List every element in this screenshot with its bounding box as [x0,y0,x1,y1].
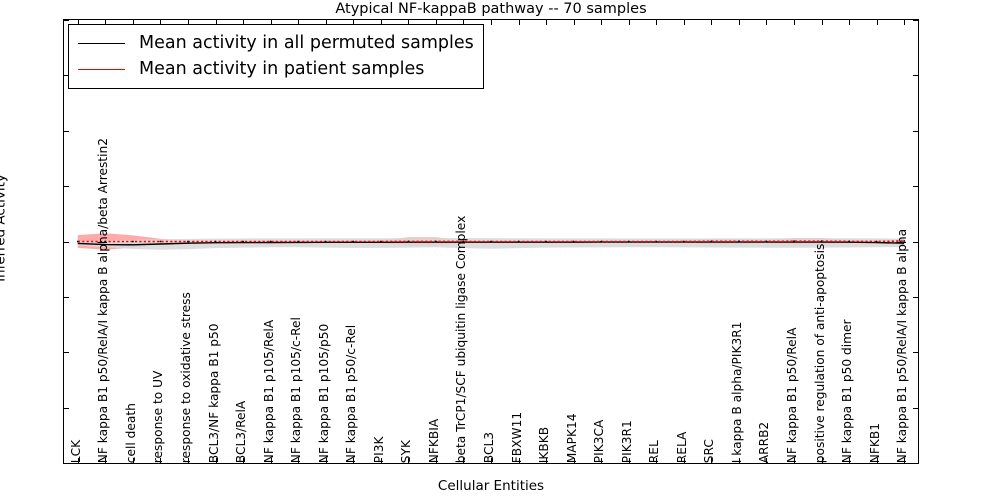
x-tick-mark [629,20,630,25]
x-tick-mark [849,20,850,25]
x-tick-label: NF kappa B1 p105/c-Rel [290,317,302,463]
chart-legend: Mean activity in all permuted samples Me… [68,24,484,89]
y-tick-mark [64,408,69,409]
x-tick-label: BCL3/RelA [235,401,247,463]
y-tick-mark [913,186,918,187]
chart-title: Atypical NF-kappaB pathway -- 70 samples [63,0,919,19]
x-tick-label: RELA [676,431,688,463]
x-tick-label: NF kappa B1 p105/RelA [263,320,275,463]
x-tick-label: PI3K [373,436,385,463]
x-tick-label: BCL3 [483,432,495,463]
x-tick-label: NF kappa B1 p50/RelA/I kappa B alpha [896,229,908,463]
x-tick-mark [904,20,905,25]
y-tick-mark [64,131,69,132]
x-tick-label: FBXW11 [511,412,523,463]
x-tick-mark [684,20,685,25]
x-tick-label: cell death [125,403,137,463]
chart-figure: Atypical NF-kappaB pathway -- 70 samples… [0,0,1000,500]
x-tick-mark [711,20,712,25]
y-tick-mark [913,297,918,298]
legend-label-patient: Mean activity in patient samples [139,59,424,79]
y-tick-mark [913,463,918,464]
y-tick-mark [64,297,69,298]
x-tick-mark [766,20,767,25]
x-tick-label: I kappa B alpha/PIK3R1 [731,321,743,463]
x-tick-label: LCK [70,440,82,463]
x-axis-label: Cellular Entities [63,478,919,494]
x-tick-mark [546,20,547,25]
y-tick-mark [913,20,918,21]
x-tick-label: response to oxidative stress [180,292,192,463]
x-tick-label: SYK [400,440,412,463]
x-tick-label: BCL3/NF kappa B1 p50 [208,323,220,463]
x-tick-mark [601,20,602,25]
x-tick-label: IKBKB [538,427,550,463]
x-tick-label: NF kappa B1 p50/RelA/I kappa B alpha/bet… [97,138,109,463]
x-tick-mark [491,20,492,25]
x-tick-label: NFKBIA [428,419,440,463]
x-tick-mark [739,20,740,25]
x-tick-mark [519,20,520,25]
y-tick-mark [64,242,69,243]
x-tick-label: PIK3CA [593,419,605,463]
legend-item-permuted: Mean activity in all permuted samples [78,30,474,56]
x-tick-label: REL [648,440,660,463]
y-tick-mark [64,186,69,187]
y-axis-label: Inferred Activity [0,6,9,451]
x-tick-mark [656,20,657,25]
x-tick-mark [822,20,823,25]
x-tick-mark [794,20,795,25]
y-tick-mark [913,352,918,353]
x-tick-mark [877,20,878,25]
y-tick-mark [64,352,69,353]
x-tick-label: NF kappa B1 p50 dimer [841,319,853,463]
x-tick-label: NF kappa B1 p105/p50 [318,324,330,463]
legend-label-permuted: Mean activity in all permuted samples [139,33,474,53]
x-tick-label: NF kappa B1 p50/RelA [786,327,798,463]
legend-swatch-permuted [78,43,125,44]
x-tick-label: NF kappa B1 p50/c-Rel [345,325,357,463]
plot-area: Mean activity in all permuted samples Me… [63,19,919,464]
x-tick-label: PIK3R1 [621,420,633,463]
y-tick-mark [913,75,918,76]
y-tick-mark [64,20,69,21]
y-tick-mark [913,408,918,409]
y-tick-mark [913,242,918,243]
x-tick-mark [574,20,575,25]
x-tick-label: NFKB1 [869,423,881,463]
legend-swatch-patient [78,69,125,70]
x-tick-label: MAPK14 [566,413,578,463]
x-tick-label: positive regulation of anti-apoptosis [814,243,826,463]
x-tick-label: response to UV [153,370,165,463]
x-tick-label: SRC [703,439,715,463]
x-tick-label: ARRB2 [759,422,771,463]
y-tick-mark [913,131,918,132]
legend-item-patient: Mean activity in patient samples [78,56,474,82]
x-tick-label: beta TrCP1/SCF ubiquitin ligase Complex [456,216,468,463]
